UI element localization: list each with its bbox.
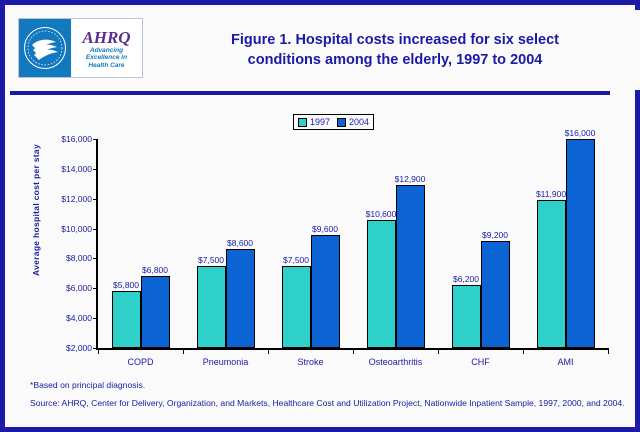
plot-area: $2,000$4,000$6,000$8,000$10,000$12,000$1… xyxy=(96,139,608,350)
bar-value-label: $9,200 xyxy=(482,230,508,240)
figure-title: Figure 1. Hospital costs increased for s… xyxy=(160,30,630,70)
bar-value-label: $8,600 xyxy=(227,238,253,248)
x-axis-tick-mark xyxy=(523,348,524,354)
bar-groups: $5,800$6,800COPD$7,500$8,600Pneumonia$7,… xyxy=(98,139,608,348)
legend-label-2004: 2004 xyxy=(349,117,369,127)
bar-copd-1997: $5,800 xyxy=(112,291,141,348)
x-axis-label-stroke: Stroke xyxy=(297,357,323,367)
bar-osteoarthritis-2004: $12,900 xyxy=(396,185,425,348)
x-axis-label-copd: COPD xyxy=(127,357,153,367)
bar-group: $10,600$12,900Osteoarthritis xyxy=(353,139,438,348)
footnote-text: *Based on principal diagnosis. xyxy=(30,379,145,392)
bar-group: $11,900$16,000AMI xyxy=(523,139,608,348)
figure-frame: AHRQ Advancing Excellence in Health Care… xyxy=(0,0,640,432)
bar-value-label: $16,000 xyxy=(565,128,596,138)
bar-ami-2004: $16,000 xyxy=(566,139,595,348)
bar-stroke-2004: $9,600 xyxy=(311,235,340,348)
figure-title-line1: Figure 1. Hospital costs increased for s… xyxy=(160,30,630,50)
bar-value-label: $6,800 xyxy=(142,265,168,275)
bar-chart: 1997 2004 Average hospital cost per stay… xyxy=(10,97,640,377)
bar-value-label: $9,600 xyxy=(312,224,338,234)
legend-label-1997: 1997 xyxy=(310,117,330,127)
ahrq-tagline-line3: Health Care xyxy=(86,62,127,70)
ahrq-logo: AHRQ Advancing Excellence in Health Care xyxy=(18,18,143,78)
y-axis-title: Average hospital cost per stay xyxy=(31,110,41,310)
ahrq-wordmark: AHRQ xyxy=(82,29,130,46)
legend-item-1997: 1997 xyxy=(298,117,330,127)
source-text: Source: AHRQ, Center for Delivery, Organ… xyxy=(30,397,630,410)
legend-item-2004: 2004 xyxy=(337,117,369,127)
bar-pneumonia-2004: $8,600 xyxy=(226,249,255,348)
bar-ami-1997: $11,900 xyxy=(537,200,566,348)
figure-header: AHRQ Advancing Excellence in Health Care… xyxy=(10,10,640,90)
bar-group: $5,800$6,800COPD xyxy=(98,139,183,348)
x-axis-label-pneumonia: Pneumonia xyxy=(203,357,249,367)
bar-value-label: $10,600 xyxy=(366,209,397,219)
ahrq-tagline-line1: Advancing xyxy=(86,47,127,55)
x-axis-tick-mark xyxy=(268,348,269,354)
x-axis-end-tick-mark xyxy=(608,348,609,354)
x-axis-label-chf: CHF xyxy=(471,357,490,367)
bar-chf-1997: $6,200 xyxy=(452,285,481,348)
hhs-eagle-seal-icon xyxy=(19,19,71,77)
x-axis-label-ami: AMI xyxy=(557,357,573,367)
header-divider xyxy=(10,91,610,95)
bar-pneumonia-1997: $7,500 xyxy=(197,266,226,348)
bar-value-label: $6,200 xyxy=(453,274,479,284)
ahrq-wordmark-block: AHRQ Advancing Excellence in Health Care xyxy=(71,19,142,77)
ahrq-tagline-line2: Excellence in xyxy=(86,54,127,62)
bar-value-label: $7,500 xyxy=(283,255,309,265)
bar-value-label: $12,900 xyxy=(395,174,426,184)
bar-chf-2004: $9,200 xyxy=(481,241,510,348)
x-axis-tick-mark xyxy=(438,348,439,354)
bar-group: $7,500$8,600Pneumonia xyxy=(183,139,268,348)
chart-legend: 1997 2004 xyxy=(293,114,374,130)
x-axis-label-osteoarthritis: Osteoarthritis xyxy=(369,357,423,367)
legend-swatch-2004 xyxy=(337,118,346,127)
ahrq-tagline: Advancing Excellence in Health Care xyxy=(86,47,127,70)
bar-stroke-1997: $7,500 xyxy=(282,266,311,348)
bar-value-label: $11,900 xyxy=(536,189,566,199)
bar-copd-2004: $6,800 xyxy=(141,276,170,348)
legend-swatch-1997 xyxy=(298,118,307,127)
bar-group: $6,200$9,200CHF xyxy=(438,139,523,348)
x-axis-tick-mark xyxy=(183,348,184,354)
bar-osteoarthritis-1997: $10,600 xyxy=(367,220,396,348)
bar-group: $7,500$9,600Stroke xyxy=(268,139,353,348)
bar-value-label: $7,500 xyxy=(198,255,224,265)
x-axis-tick-mark xyxy=(98,348,99,354)
x-axis-tick-mark xyxy=(353,348,354,354)
figure-title-line2: conditions among the elderly, 1997 to 20… xyxy=(160,50,630,70)
bar-value-label: $5,800 xyxy=(113,280,139,290)
